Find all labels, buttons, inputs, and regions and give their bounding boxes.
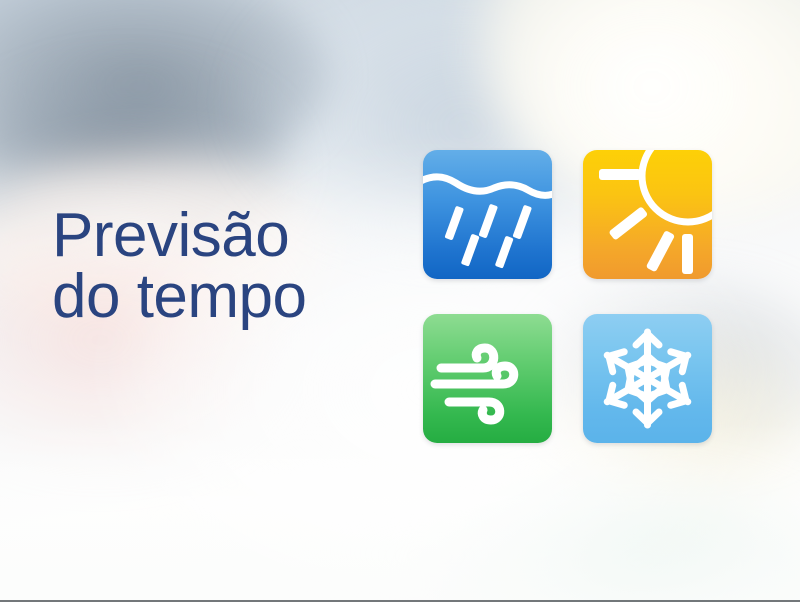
snow-icon[interactable]: [583, 314, 712, 443]
rain-icon[interactable]: [423, 150, 552, 279]
weather-icon-grid: [423, 150, 712, 443]
bottom-fade: [0, 422, 800, 602]
page-title: Previsão do tempo: [52, 206, 412, 328]
weather-forecast-card: Previsão do tempo: [0, 0, 800, 602]
sun-icon[interactable]: [583, 150, 712, 279]
wind-icon[interactable]: [423, 314, 552, 443]
